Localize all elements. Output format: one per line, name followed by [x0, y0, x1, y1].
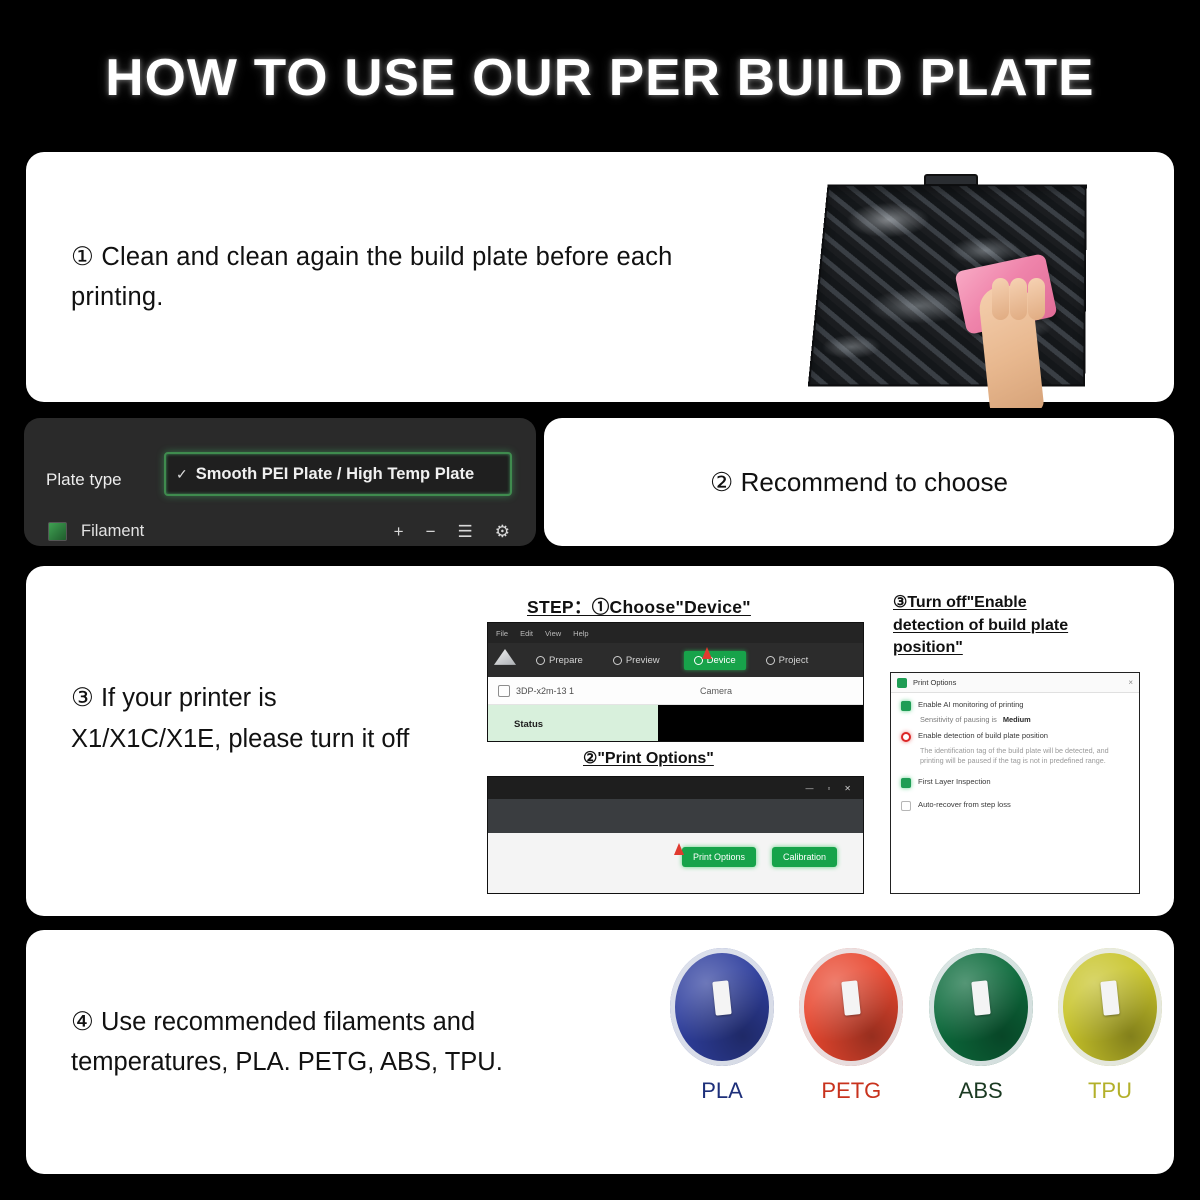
tab-preview-label: Preview: [626, 655, 660, 666]
option-description: The identification tag of the build plat…: [891, 742, 1139, 765]
menu-item-view[interactable]: View: [545, 629, 561, 638]
plate-type-dropdown[interactable]: ✓ Smooth PEI Plate / High Temp Plate: [164, 452, 512, 496]
spool-item: ABS: [925, 948, 1037, 1104]
caption-turnoff-line-1: ③Turn off"Enable: [893, 594, 1027, 611]
step-1-text: ① Clean and clean again the build plate …: [71, 238, 761, 317]
caption-choose-device: STEP：①Choose"Device": [527, 594, 751, 619]
tab-preview[interactable]: Preview: [603, 651, 670, 670]
filament-spool-icon: [799, 948, 903, 1066]
project-icon: [766, 656, 775, 665]
sensitivity-label: Sensitivity of pausing is: [920, 715, 997, 724]
screenshot-device-tab: File Edit View Help Prepare Preview Devi…: [487, 622, 864, 742]
spool-item: PETG: [795, 948, 907, 1104]
tab-project-label: Project: [779, 655, 809, 666]
caption-turn-off-detection: ③Turn off"Enable detection of build plat…: [893, 592, 1143, 660]
option-build-plate-detection-label: Enable detection of build plate position: [918, 731, 1048, 741]
filament-settings-icon[interactable]: ⚙: [495, 523, 510, 540]
slicer-plate-type-panel: Plate type ✓ Smooth PEI Plate / High Tem…: [24, 418, 536, 546]
device-selector[interactable]: 3DP-x2m-13 1: [498, 685, 574, 697]
filament-spool-icon: [1058, 948, 1162, 1066]
app-menubar: File Edit View Help: [488, 623, 863, 643]
status-sidebar-item[interactable]: Status: [488, 705, 658, 742]
caption-print-options: ②"Print Options": [583, 748, 714, 768]
finger-icon: [992, 278, 1009, 320]
step-2-text: ② Recommend to choose: [544, 418, 1174, 546]
checkbox-icon[interactable]: [901, 801, 911, 811]
step-1-card: ① Clean and clean again the build plate …: [26, 152, 1174, 402]
dialog-header: Print Options ×: [891, 673, 1139, 693]
finger-icon: [1028, 278, 1045, 320]
camera-label: Camera: [700, 686, 732, 696]
build-plate-cleaning-photo: [796, 166, 1188, 408]
device-name: 3DP-x2m-13 1: [516, 686, 574, 696]
menu-item-file[interactable]: File: [496, 629, 508, 638]
checkbox-icon[interactable]: [901, 701, 911, 711]
close-icon[interactable]: ✕: [844, 784, 851, 793]
filament-spool-icon: [670, 948, 774, 1066]
plate-type-value: Smooth PEI Plate / High Temp Plate: [196, 465, 474, 484]
screenshot-print-options-dialog: Print Options × Enable AI monitoring of …: [890, 672, 1140, 894]
step-2-card: ② Recommend to choose: [544, 418, 1174, 546]
option-auto-recover[interactable]: Auto-recover from step loss: [891, 788, 1139, 811]
print-options-icon: [897, 678, 907, 688]
caption-turnoff-line-2: detection of build plate: [893, 617, 1068, 634]
dialog-title: Print Options: [913, 678, 1122, 687]
add-filament-icon[interactable]: +: [394, 523, 404, 540]
printer-icon: [498, 685, 510, 697]
tab-prepare-label: Prepare: [549, 655, 583, 666]
window-topbar: — ▫ ✕: [488, 777, 863, 799]
dialog-close-icon[interactable]: ×: [1128, 678, 1133, 687]
print-options-button[interactable]: Print Options: [682, 847, 756, 867]
spool-item: PLA: [666, 948, 778, 1104]
option-first-layer-inspection[interactable]: First Layer Inspection: [891, 765, 1139, 788]
spool-tag: [971, 980, 990, 1015]
sensitivity-value: Medium: [1003, 715, 1031, 724]
plate-type-label: Plate type: [46, 470, 122, 490]
option-ai-monitoring[interactable]: Enable AI monitoring of printing: [891, 693, 1139, 711]
prepare-icon: [536, 656, 545, 665]
sensitivity-row[interactable]: Sensitivity of pausing is Medium: [891, 711, 1139, 724]
finger-icon: [1010, 278, 1027, 320]
step-4-card: ④ Use recommended filaments and temperat…: [26, 930, 1174, 1174]
controls-area: Print Options Calibration: [488, 833, 863, 893]
filament-row: Filament + − ☰ ⚙: [24, 514, 536, 546]
menu-item-help[interactable]: Help: [573, 629, 588, 638]
checkbox-icon[interactable]: [901, 778, 911, 788]
filament-spool-icon: [929, 948, 1033, 1066]
option-auto-recover-label: Auto-recover from step loss: [918, 800, 1011, 810]
caption-turnoff-line-3: position": [893, 639, 963, 656]
tab-device[interactable]: Device: [684, 651, 746, 670]
maximize-icon[interactable]: ▫: [827, 784, 830, 793]
infographic-page: HOW TO USE OUR PER BUILD PLATE ① Clean a…: [0, 0, 1200, 1200]
menu-item-edit[interactable]: Edit: [520, 629, 533, 638]
checkmark-icon: ✓: [176, 466, 188, 483]
filament-label: Filament: [81, 522, 144, 541]
calibration-button[interactable]: Calibration: [772, 847, 837, 867]
option-first-layer-inspection-label: First Layer Inspection: [918, 777, 991, 787]
filament-list-icon[interactable]: ☰: [458, 523, 473, 540]
spool-label-tpu: TPU: [1054, 1078, 1166, 1104]
camera-stream-area: [488, 799, 863, 833]
filament-spool-group: PLA PETG ABS T: [666, 948, 1166, 1148]
option-ai-monitoring-label: Enable AI monitoring of printing: [918, 700, 1024, 710]
app-tabbar: Prepare Preview Device Project: [488, 643, 863, 677]
device-panel-body: 3DP-x2m-13 1 Camera Status: [488, 677, 863, 742]
cursor-pointer-icon: [702, 647, 712, 659]
camera-view: [658, 705, 863, 742]
page-title: HOW TO USE OUR PER BUILD PLATE: [0, 48, 1200, 108]
spool-label-abs: ABS: [925, 1078, 1037, 1104]
tab-prepare[interactable]: Prepare: [526, 651, 593, 670]
remove-filament-icon[interactable]: −: [426, 523, 436, 540]
spool-label-pla: PLA: [666, 1078, 778, 1104]
device-selector-row: 3DP-x2m-13 1 Camera: [488, 677, 863, 705]
tab-project[interactable]: Project: [756, 651, 819, 670]
step-3-text: ③ If your printer is X1/X1C/X1E, please …: [71, 678, 421, 760]
step-4-text: ④ Use recommended filaments and temperat…: [71, 1002, 631, 1083]
preview-icon: [613, 656, 622, 665]
status-label: Status: [514, 719, 543, 730]
screenshot-print-options-buttons: — ▫ ✕ Print Options Calibration: [487, 776, 864, 894]
caption-print-options-text: ②"Print Options": [583, 750, 714, 767]
page-title-text: HOW TO USE OUR PER BUILD PLATE: [105, 48, 1094, 108]
filament-color-swatch[interactable]: [48, 522, 67, 541]
target-marker-icon: [901, 732, 911, 742]
minimize-icon[interactable]: —: [805, 784, 813, 793]
option-build-plate-detection[interactable]: Enable detection of build plate position: [891, 724, 1139, 742]
cursor-pointer-icon: [674, 843, 684, 855]
caption-choose-device-text: STEP：①Choose"Device": [527, 597, 751, 617]
app-logo-icon: [494, 649, 516, 671]
spool-item: TPU: [1054, 948, 1166, 1104]
spool-label-petg: PETG: [795, 1078, 907, 1104]
